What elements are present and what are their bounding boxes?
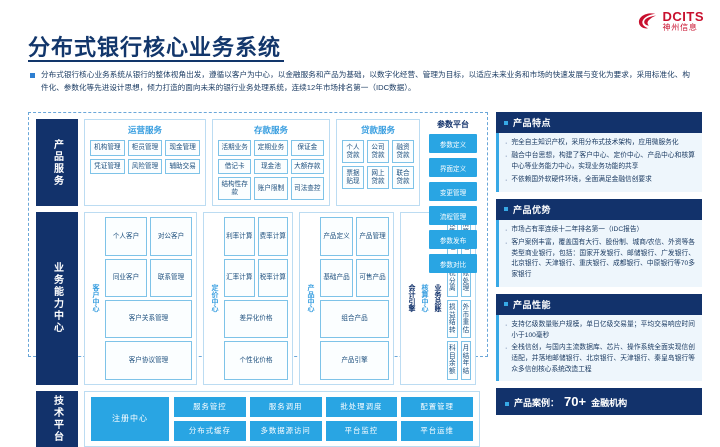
tile-item[interactable]: 现金管理 — [165, 140, 200, 156]
intro-text: 分布式银行核心业务系统从银行的整体视角出发，遵循以客户为中心，以金融服务和产品为… — [41, 68, 690, 95]
tile-item[interactable]: 司法查控 — [291, 177, 324, 200]
card-header: 产品优势 — [496, 199, 702, 220]
square-bullet-icon — [504, 302, 508, 306]
tile-item[interactable]: 联合贷款 — [392, 166, 414, 189]
band-product-service: 产品服务 运营服务 机构管理 柜员管理 现金管理 凭证管理 风险管理 辅助交易 … — [36, 119, 480, 206]
card-product-features: 产品特点 · 完全自主知识产权，采用分布式技术架构，应用微服务化 · 融合中台思… — [496, 112, 702, 192]
brand-logo: DCITS 神州信息 — [637, 10, 705, 32]
center-name-pricing: 定价中心 — [208, 217, 221, 379]
dot-bullet-icon: · — [505, 225, 507, 236]
page-title: 分布式银行核心业务系统 — [28, 30, 281, 62]
list-item: · 支持亿级数量账户规模，单日亿级交易量；平均交易响应时间小于100毫秒 — [505, 320, 695, 341]
list-item-text: 融合中台思想，构建了客户中心、定价中心、产品中心和核算中心等业务能力中心，实现业… — [511, 151, 695, 172]
list-item-text: 全栈信创，与国内主流数据库、芯片、操作系统全面实现信创适配，并落地邮储银行、北京… — [511, 343, 695, 375]
card-body: · 市场占有率连续十二年排名第一（IDC报告） · 客户案例丰富，覆盖国有大行、… — [496, 220, 702, 287]
tile-item[interactable]: 产品管理 — [356, 217, 389, 255]
card-title: 产品特点 — [513, 116, 551, 129]
list-item-text: 不依赖国外软硬件环境，全面满足金融信创要求 — [511, 175, 651, 186]
group-title-loan: 贷款服务 — [342, 124, 414, 136]
tile-item[interactable]: 对公客户 — [150, 217, 192, 255]
center-product: 产品中心 产品定义 产品管理 基础产品 可售产品 组合产品 产品引擎 — [299, 212, 394, 384]
case-suffix: 金融机构 — [591, 396, 627, 409]
list-item: · 融合中台思想，构建了客户中心、定价中心、产品中心和核算中心等业务能力中心，实… — [505, 151, 695, 172]
group-title-deposit: 存款服务 — [218, 124, 324, 136]
tile-item[interactable]: 借记卡 — [218, 159, 251, 175]
tile-item[interactable]: 多数据源访问 — [250, 421, 322, 441]
tile-item[interactable]: 个人客户 — [105, 217, 147, 255]
group-title-operation: 运营服务 — [90, 124, 200, 136]
dot-bullet-icon: · — [505, 151, 507, 172]
list-item: · 客户案例丰富，覆盖国有大行、股份制、城商/农信、外资等各类型商业银行，包括：… — [505, 238, 695, 281]
tile-item[interactable]: 配置管理 — [401, 397, 473, 417]
tile-item[interactable]: 融资贷款 — [392, 140, 414, 163]
tile-item[interactable]: 损益结转 — [447, 300, 458, 338]
tile-item[interactable]: 联系管理 — [150, 259, 192, 297]
accounting-sublabel-engine: 会计引擎 — [405, 217, 418, 379]
tile-item[interactable]: 大额存款 — [291, 159, 324, 175]
tile-item[interactable]: 组合产品 — [320, 300, 389, 338]
param-button[interactable]: 界面定义 — [429, 158, 477, 177]
case-summary-bar: 产品案例： 70+ 金融机构 — [496, 388, 702, 415]
center-name-customer: 客户中心 — [89, 217, 102, 379]
tile-item[interactable]: 外币重估 — [461, 300, 472, 338]
param-button[interactable]: 流程管理 — [429, 206, 477, 225]
tile-item[interactable]: 汇率计算 — [224, 259, 255, 297]
band-label-capability-center: 业务能力中心 — [36, 212, 78, 384]
tile-item[interactable]: 产品定义 — [320, 217, 353, 255]
param-button[interactable]: 参数发布 — [429, 230, 477, 249]
list-item: · 全栈信创，与国内主流数据库、芯片、操作系统全面实现信创适配，并落地邮储银行、… — [505, 343, 695, 375]
tile-item[interactable]: 票据贴现 — [342, 166, 364, 189]
band-label-product-service: 产品服务 — [36, 119, 78, 206]
card-body: · 支持亿级数量账户规模，单日亿级交易量；平均交易响应时间小于100毫秒 · 全… — [496, 315, 702, 382]
list-item-text: 完全自主知识产权，采用分布式技术架构，应用微服务化 — [511, 138, 678, 149]
list-item: · 完全自主知识产权，采用分布式技术架构，应用微服务化 — [505, 138, 695, 149]
tile-item[interactable]: 税率计算 — [258, 259, 289, 297]
dcits-swirl-icon — [637, 11, 659, 31]
center-name-product: 产品中心 — [304, 217, 317, 379]
dot-bullet-icon: · — [505, 138, 507, 149]
logo-en-text: DCITS — [663, 10, 705, 23]
dot-bullet-icon: · — [505, 320, 507, 341]
tile-item[interactable]: 产品引擎 — [320, 341, 389, 379]
tile-item[interactable]: 现金池 — [254, 159, 287, 175]
architecture-diagram: 产品服务 运营服务 机构管理 柜员管理 现金管理 凭证管理 风险管理 辅助交易 … — [28, 112, 488, 357]
card-header: 产品特点 — [496, 112, 702, 133]
tile-item[interactable]: 批处理调度 — [326, 397, 398, 417]
list-item-text: 市场占有率连续十二年排名第一（IDC报告） — [511, 225, 643, 236]
param-button[interactable]: 参数对比 — [429, 254, 477, 273]
tile-item[interactable]: 服务管控 — [174, 397, 246, 417]
square-bullet-icon — [30, 73, 35, 78]
square-bullet-icon — [504, 121, 508, 125]
tile-item[interactable]: 可售产品 — [356, 259, 389, 297]
square-bullet-icon — [504, 207, 508, 211]
tile-item[interactable]: 网上贷款 — [367, 166, 389, 189]
param-button[interactable]: 变更管理 — [429, 182, 477, 201]
tile-item[interactable]: 活期业务 — [218, 140, 251, 156]
tile-item[interactable]: 个性化价格 — [224, 341, 288, 379]
case-label: 产品案例： — [514, 396, 559, 409]
tile-item[interactable]: 平台监控 — [326, 421, 398, 441]
group-loan-service: 贷款服务 个人贷款 公司贷款 融资贷款 票据贴现 网上贷款 联合贷款 — [336, 119, 420, 206]
logo-cn-text: 神州信息 — [663, 24, 705, 32]
tech-platform-panel: 注册中心 服务管控 服务调用 批处理调度 配置管理 分布式缓存 多数据源访问 平… — [84, 391, 480, 447]
band-tech-platform: 技术平台 注册中心 服务管控 服务调用 批处理调度 配置管理 分布式缓存 多数据… — [36, 391, 480, 447]
tile-item[interactable]: 服务调用 — [250, 397, 322, 417]
intro-paragraph: 分布式银行核心业务系统从银行的整体视角出发，遵循以客户为中心，以金融服务和产品为… — [30, 68, 690, 95]
card-body: · 完全自主知识产权，采用分布式技术架构，应用微服务化 · 融合中台思想，构建了… — [496, 133, 702, 192]
tile-item[interactable]: 保证金 — [291, 140, 324, 156]
parameter-platform-title: 参数平台 — [437, 119, 469, 130]
tile-item[interactable]: 个人贷款 — [342, 140, 364, 163]
tile-item[interactable]: 基础产品 — [320, 259, 353, 297]
card-product-advantages: 产品优势 · 市场占有率连续十二年排名第一（IDC报告） · 客户案例丰富，覆盖… — [496, 199, 702, 287]
tile-item[interactable]: 机构管理 — [90, 140, 125, 156]
title-underline — [28, 60, 284, 62]
info-column: 产品特点 · 完全自主知识产权，采用分布式技术架构，应用微服务化 · 融合中台思… — [496, 112, 702, 357]
tile-register-center[interactable]: 注册中心 — [91, 397, 169, 441]
card-header: 产品性能 — [496, 294, 702, 315]
group-deposit-service: 存款服务 活期业务 定期业务 保证金 借记卡 现金池 大额存款 结构性存款 账户… — [212, 119, 330, 206]
list-item-text: 支持亿级数量账户规模，单日亿级交易量；平均交易响应时间小于100毫秒 — [511, 320, 695, 341]
tile-item[interactable]: 结构性存款 — [218, 177, 251, 200]
tile-item[interactable]: 费率计算 — [258, 217, 289, 255]
center-customer: 客户中心 个人客户 对公客户 同业客户 联系管理 客户关系管理 客户协议管理 — [84, 212, 197, 384]
card-title: 产品优势 — [513, 203, 551, 216]
center-pricing: 定价中心 利率计算 费率计算 汇率计算 税率计算 差异化价格 个性化价格 — [203, 212, 293, 384]
tile-item[interactable]: 定期业务 — [254, 140, 287, 156]
tile-item[interactable]: 平台运维 — [401, 421, 473, 441]
card-product-performance: 产品性能 · 支持亿级数量账户规模，单日亿级交易量；平均交易响应时间小于100毫… — [496, 294, 702, 382]
dot-bullet-icon: · — [505, 175, 507, 186]
tile-item[interactable]: 科目余额 — [447, 341, 458, 379]
parameter-platform: 参数平台 参数定义 界面定义 变更管理 流程管理 参数发布 参数对比 — [426, 119, 480, 278]
tile-item[interactable]: 客户关系管理 — [105, 300, 192, 338]
param-button[interactable]: 参数定义 — [429, 134, 477, 153]
tile-item[interactable]: 月结年结 — [461, 341, 472, 379]
group-operation-service: 运营服务 机构管理 柜员管理 现金管理 凭证管理 风险管理 辅助交易 — [84, 119, 206, 206]
band-capability-center: 业务能力中心 客户中心 个人客户 对公客户 同业客户 联系管理 客户关系管理 客… — [36, 212, 480, 384]
tile-item[interactable]: 差异化价格 — [224, 300, 288, 338]
tile-item[interactable]: 风险管理 — [128, 159, 163, 175]
tile-item[interactable]: 公司贷款 — [367, 140, 389, 163]
tile-item[interactable]: 柜员管理 — [128, 140, 163, 156]
square-bullet-icon — [505, 402, 509, 406]
slide-root: DCITS 神州信息 分布式银行核心业务系统 分布式银行核心业务系统从银行的整体… — [0, 0, 720, 405]
dot-bullet-icon: · — [505, 238, 507, 281]
tile-item[interactable]: 客户协议管理 — [105, 341, 192, 379]
dot-bullet-icon: · — [505, 343, 507, 375]
tile-item[interactable]: 凭证管理 — [90, 159, 125, 175]
card-title: 产品性能 — [513, 298, 551, 311]
list-item: · 不依赖国外软硬件环境，全面满足金融信创要求 — [505, 175, 695, 186]
band-label-tech-platform: 技术平台 — [36, 391, 78, 447]
list-item: · 市场占有率连续十二年排名第一（IDC报告） — [505, 225, 695, 236]
tile-item[interactable]: 辅助交易 — [165, 159, 200, 175]
list-item-text: 客户案例丰富，覆盖国有大行、股份制、城商/农信、外资等各类型商业银行，包括：国家… — [511, 238, 695, 281]
tile-item[interactable]: 分布式缓存 — [174, 421, 246, 441]
case-number: 70+ — [564, 394, 586, 409]
tile-item[interactable]: 同业客户 — [105, 259, 147, 297]
tile-item[interactable]: 利率计算 — [224, 217, 255, 255]
tile-item[interactable]: 账户限制 — [254, 177, 287, 200]
